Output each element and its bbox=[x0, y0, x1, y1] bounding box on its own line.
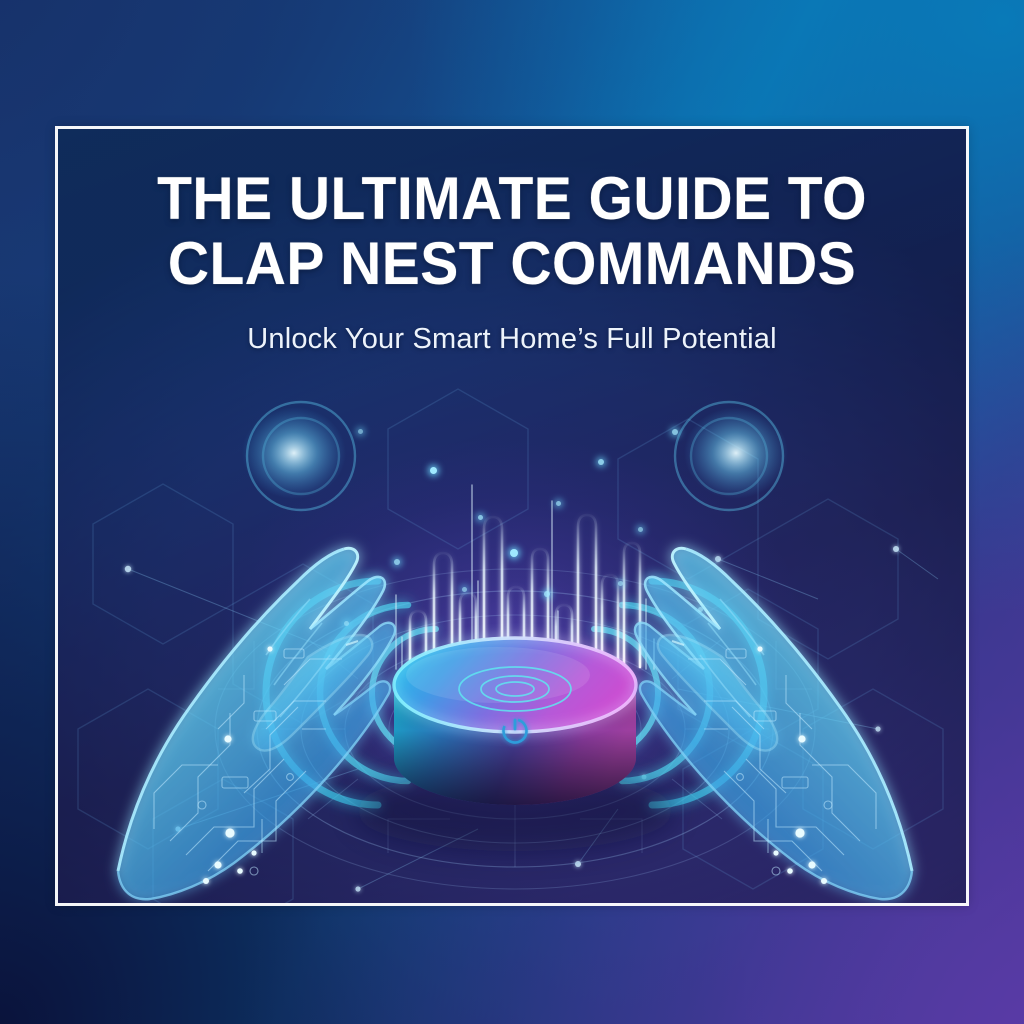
particle bbox=[598, 459, 604, 465]
particle bbox=[358, 429, 363, 434]
robotic-hand-right bbox=[635, 402, 912, 899]
particle bbox=[672, 429, 678, 435]
page-subtitle: Unlock Your Smart Home’s Full Potential bbox=[58, 323, 966, 356]
framed-panel: THE ULTIMATE GUIDE TO CLAP NEST COMMANDS… bbox=[55, 126, 969, 906]
particle bbox=[430, 467, 437, 474]
banner-canvas: THE ULTIMATE GUIDE TO CLAP NEST COMMANDS… bbox=[0, 0, 1024, 1024]
particle bbox=[510, 549, 518, 557]
particle bbox=[394, 559, 400, 565]
particle bbox=[698, 607, 703, 612]
robotic-hand-left bbox=[118, 402, 395, 899]
particle bbox=[462, 587, 467, 592]
particle bbox=[638, 527, 643, 532]
particle bbox=[556, 501, 561, 506]
page-title-line-2: CLAP NEST COMMANDS bbox=[81, 232, 944, 297]
page-title-line-1: THE ULTIMATE GUIDE TO bbox=[81, 167, 944, 232]
particle bbox=[544, 591, 550, 597]
particle bbox=[344, 621, 349, 626]
particle bbox=[618, 581, 623, 586]
headline-block: THE ULTIMATE GUIDE TO CLAP NEST COMMANDS… bbox=[58, 167, 966, 356]
particle bbox=[478, 515, 483, 520]
smart-speaker-device[interactable] bbox=[355, 638, 675, 851]
